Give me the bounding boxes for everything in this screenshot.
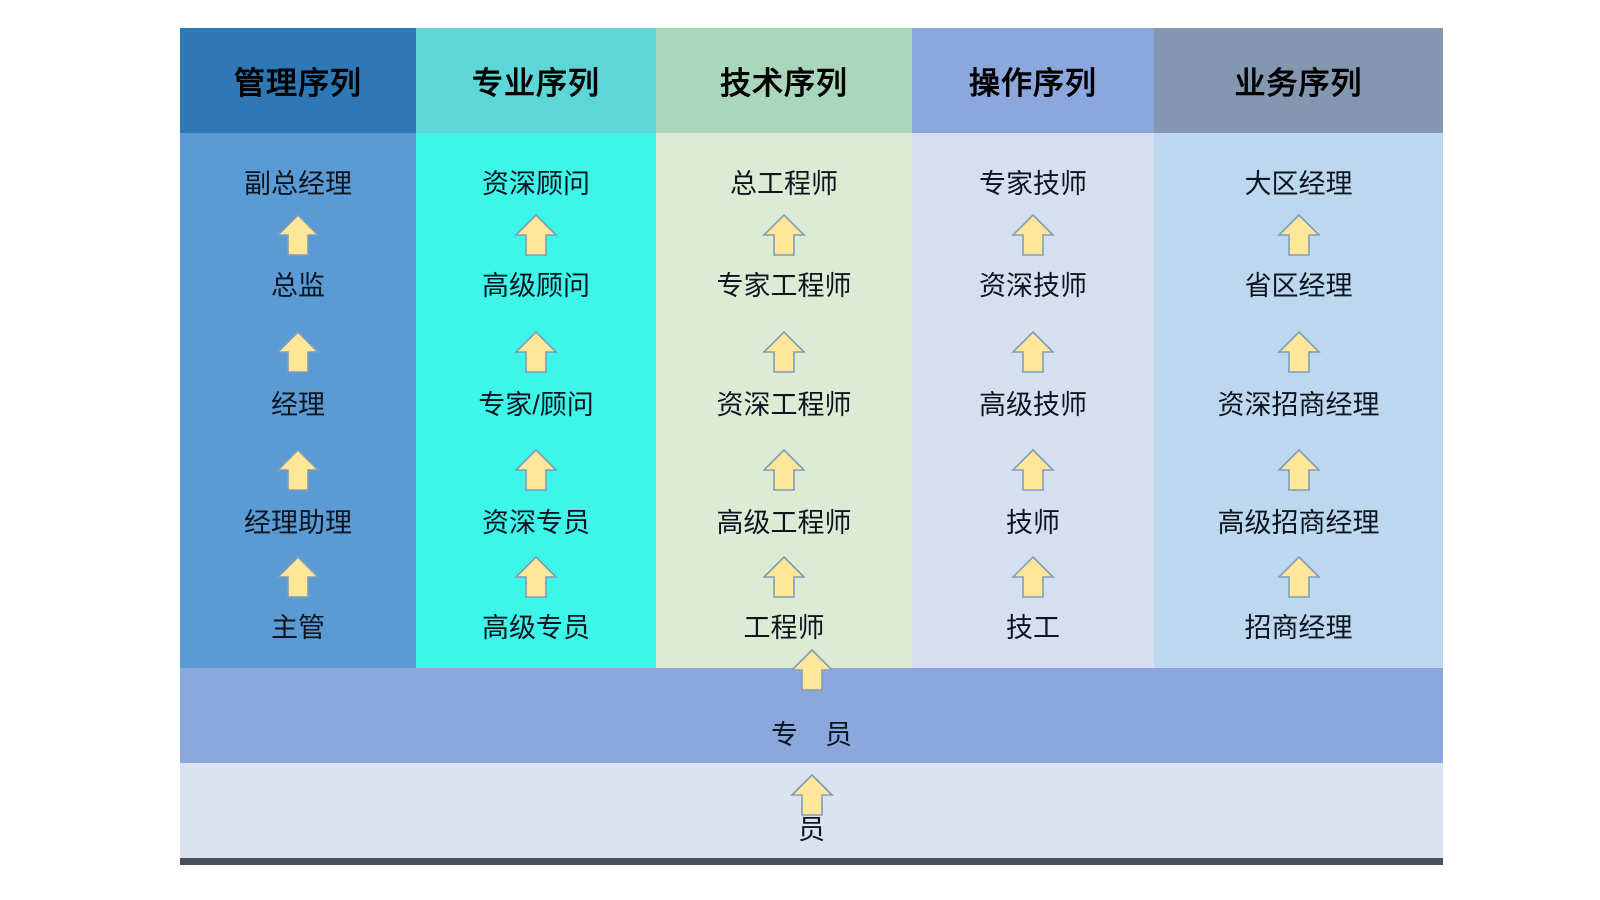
promotion-arrow-icon <box>276 330 320 374</box>
promotion-arrow-icon <box>1277 213 1321 257</box>
promotion-arrow-icon <box>762 213 806 257</box>
ladder-column-technical: 总工程师 专家工程师 资深工程师 高级工程师 工程师 <box>656 133 912 668</box>
level-business-5[interactable]: 招商经理 <box>1154 615 1443 642</box>
promotion-arrow-icon <box>514 555 558 599</box>
chart-bottom-rule <box>180 858 1443 865</box>
sequence-header-professional[interactable]: 专业序列 <box>416 28 656 133</box>
sequence-header-row: 管理序列 专业序列 技术序列 操作序列 业务序列 <box>180 28 1443 133</box>
promotion-arrow-icon <box>276 555 320 599</box>
sequence-header-operations[interactable]: 操作序列 <box>912 28 1154 133</box>
promotion-arrow-icon <box>1011 448 1055 492</box>
level-technical-3[interactable]: 资深工程师 <box>656 392 912 419</box>
promotion-arrow-icon <box>790 773 834 817</box>
ladder-column-professional: 资深顾问 高级顾问 专家/顾问 资深专员 高级专员 <box>416 133 656 668</box>
promotion-arrow-icon <box>276 448 320 492</box>
level-operations-2[interactable]: 资深技师 <box>912 273 1154 300</box>
level-professional-5[interactable]: 高级专员 <box>416 615 656 642</box>
level-management-5[interactable]: 主管 <box>180 615 416 642</box>
promotion-arrow-icon <box>1277 555 1321 599</box>
base-level-staff-label: 员 <box>180 817 1443 844</box>
level-professional-2[interactable]: 高级顾问 <box>416 273 656 300</box>
promotion-arrow-icon <box>1011 213 1055 257</box>
level-operations-4[interactable]: 技师 <box>912 510 1154 537</box>
level-professional-1[interactable]: 资深顾问 <box>416 171 656 198</box>
level-management-1[interactable]: 副总经理 <box>180 171 416 198</box>
sequence-body-row: 副总经理 总监 经理 经理助理 主管 资深顾问 高级顾问 <box>180 133 1443 668</box>
base-level-specialist-band[interactable]: 专 员 <box>180 668 1443 763</box>
level-operations-5[interactable]: 技工 <box>912 615 1154 642</box>
ladder-column-business: 大区经理 省区经理 资深招商经理 高级招商经理 招商经理 <box>1154 133 1443 668</box>
level-technical-2[interactable]: 专家工程师 <box>656 273 912 300</box>
level-professional-3[interactable]: 专家/顾问 <box>416 392 656 419</box>
promotion-arrow-icon <box>762 555 806 599</box>
base-level-staff-band[interactable]: 员 <box>180 763 1443 858</box>
level-professional-4[interactable]: 资深专员 <box>416 510 656 537</box>
promotion-arrow-icon <box>514 330 558 374</box>
sequence-header-business[interactable]: 业务序列 <box>1154 28 1443 133</box>
sequence-header-technical[interactable]: 技术序列 <box>656 28 912 133</box>
level-business-4[interactable]: 高级招商经理 <box>1154 510 1443 537</box>
level-management-3[interactable]: 经理 <box>180 392 416 419</box>
ladder-column-operations: 专家技师 资深技师 高级技师 技师 技工 <box>912 133 1154 668</box>
promotion-arrow-icon <box>514 448 558 492</box>
level-technical-1[interactable]: 总工程师 <box>656 171 912 198</box>
level-business-3[interactable]: 资深招商经理 <box>1154 392 1443 419</box>
ladder-column-management: 副总经理 总监 经理 经理助理 主管 <box>180 133 416 668</box>
sequence-header-management[interactable]: 管理序列 <box>180 28 416 133</box>
promotion-arrow-icon <box>1277 448 1321 492</box>
level-technical-5[interactable]: 工程师 <box>656 615 912 642</box>
promotion-arrow-icon <box>276 213 320 257</box>
promotion-arrow-icon <box>1277 330 1321 374</box>
level-management-2[interactable]: 总监 <box>180 273 416 300</box>
sequence-header-operations-label: 操作序列 <box>969 58 1097 103</box>
sequence-header-management-label: 管理序列 <box>234 58 362 103</box>
promotion-arrow-icon <box>790 648 834 692</box>
level-management-4[interactable]: 经理助理 <box>180 510 416 537</box>
sequence-header-business-label: 业务序列 <box>1235 58 1363 103</box>
promotion-arrow-icon <box>1011 555 1055 599</box>
promotion-arrow-icon <box>762 330 806 374</box>
level-technical-4[interactable]: 高级工程师 <box>656 510 912 537</box>
level-business-1[interactable]: 大区经理 <box>1154 171 1443 198</box>
promotion-arrow-icon <box>514 213 558 257</box>
base-level-specialist-label: 专 员 <box>180 722 1443 749</box>
career-ladder-chart: 管理序列 专业序列 技术序列 操作序列 业务序列 副总经理 总监 经理 <box>180 28 1443 865</box>
level-business-2[interactable]: 省区经理 <box>1154 273 1443 300</box>
level-operations-1[interactable]: 专家技师 <box>912 171 1154 198</box>
sequence-header-technical-label: 技术序列 <box>720 58 848 103</box>
promotion-arrow-icon <box>1011 330 1055 374</box>
level-operations-3[interactable]: 高级技师 <box>912 392 1154 419</box>
sequence-header-professional-label: 专业序列 <box>472 58 600 103</box>
promotion-arrow-icon <box>762 448 806 492</box>
